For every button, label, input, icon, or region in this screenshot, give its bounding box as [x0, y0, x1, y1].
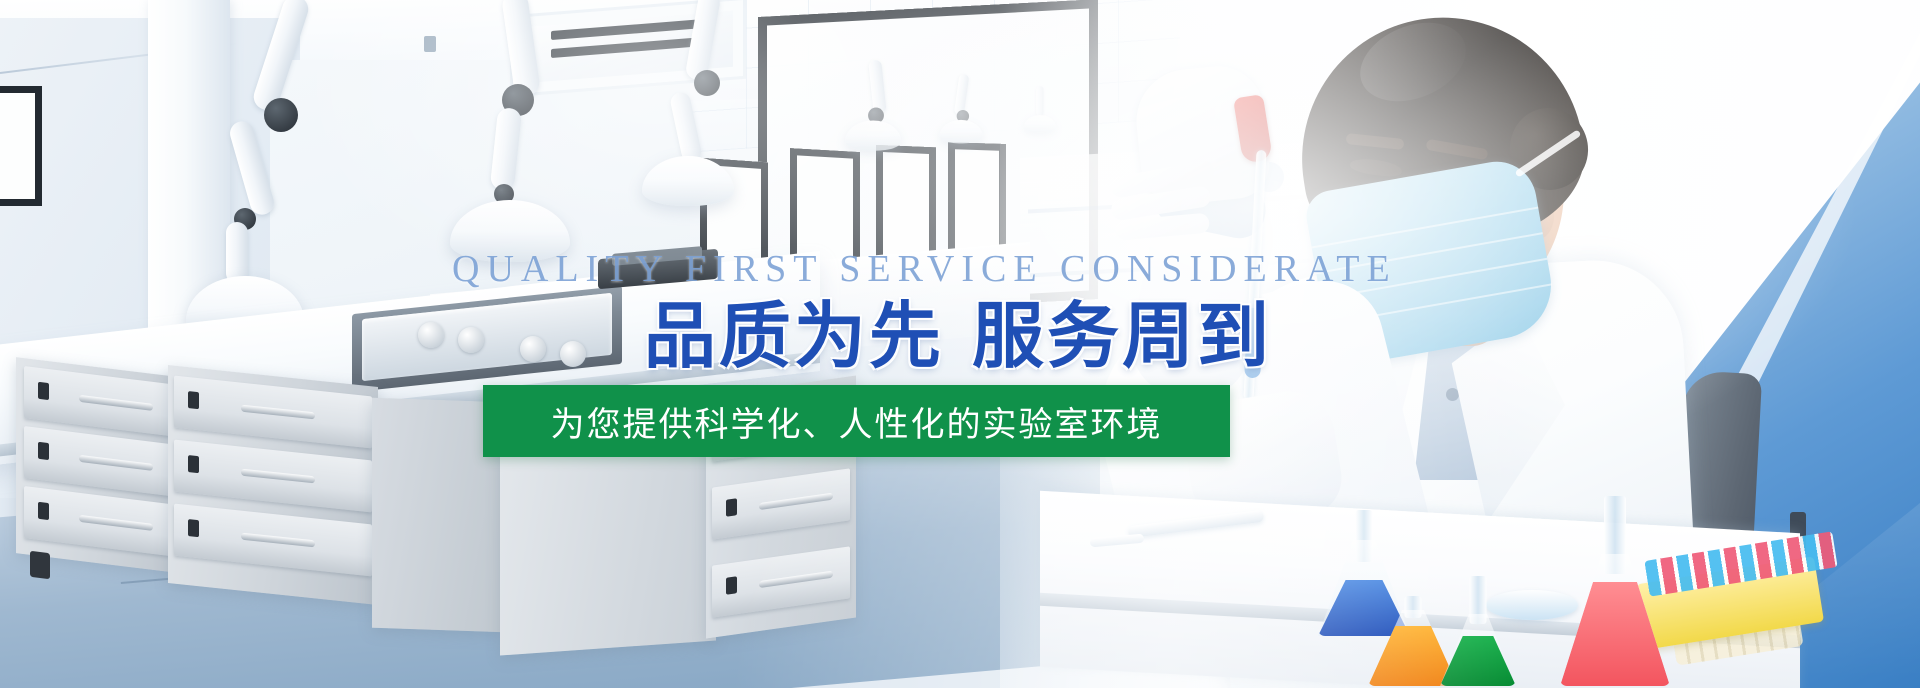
bench-knob [418, 322, 444, 348]
sprinkler-head-icon [424, 36, 436, 52]
erlenmeyer-flask-green [1440, 576, 1516, 686]
erlenmeyer-flask-pink [1560, 496, 1670, 686]
bench-knob [520, 336, 546, 362]
drawer-cabinet [706, 375, 856, 638]
shirt-button [1446, 388, 1459, 401]
drawer-cabinet [168, 365, 378, 605]
cabinet-side-panel [500, 390, 716, 655]
cabinet-side-panel [372, 398, 504, 633]
bench-knob [458, 327, 484, 353]
lab-hero-banner: QUALITY FIRST SERVICE CONSIDERATE 品质为先 服… [0, 0, 1920, 688]
window-pane [0, 86, 42, 206]
bench-knob [560, 341, 586, 367]
